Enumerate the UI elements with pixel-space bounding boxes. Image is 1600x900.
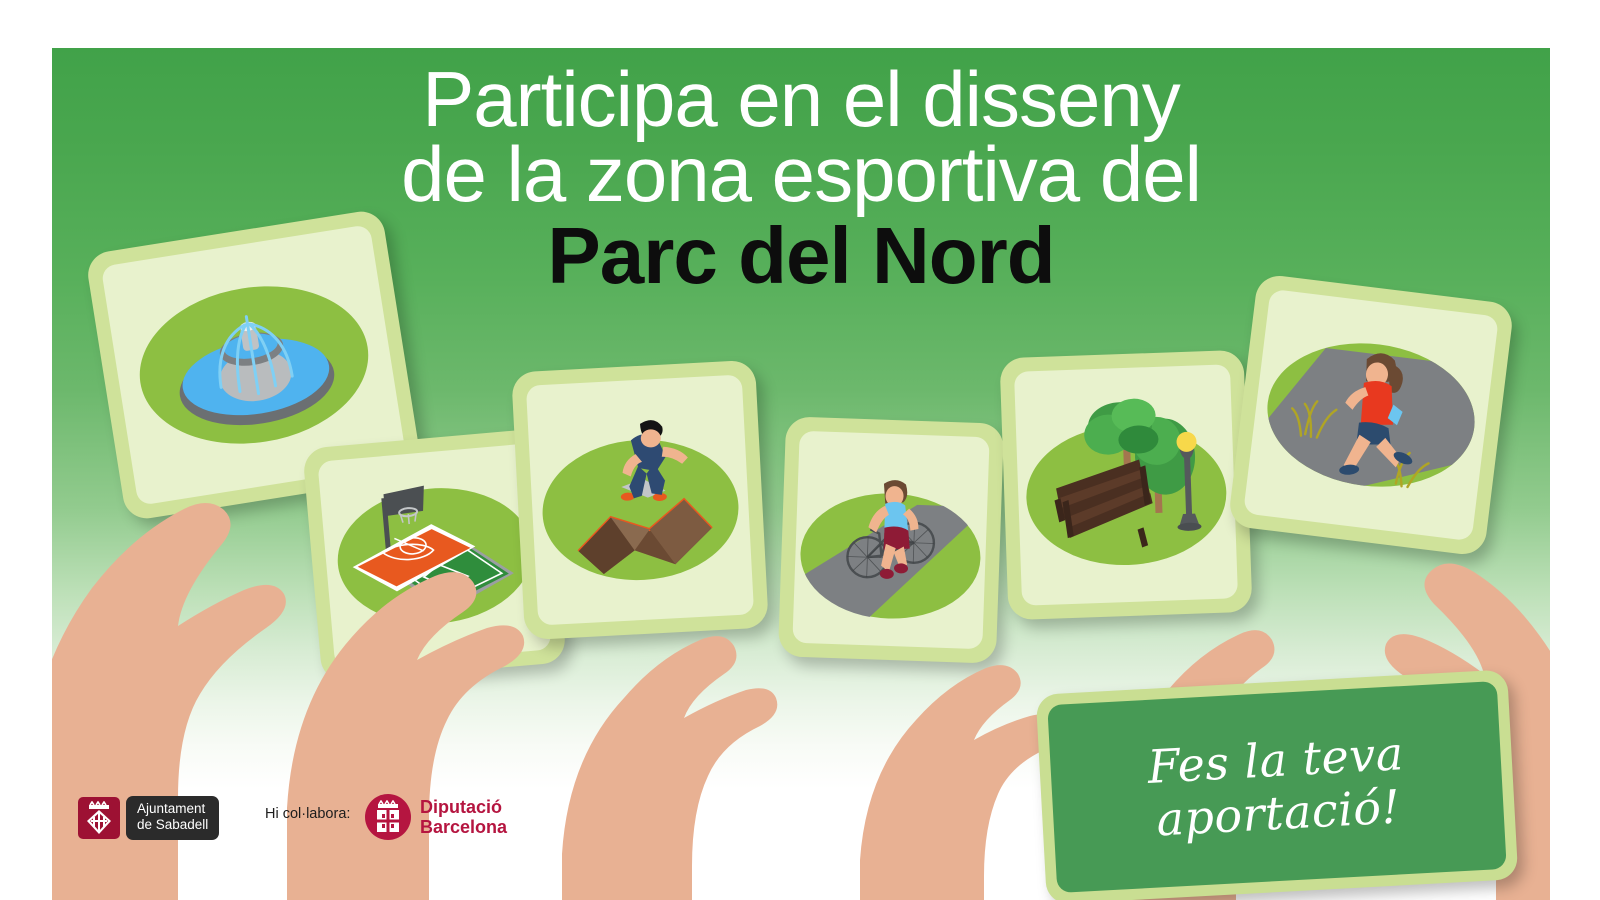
- diputacio-seal-icon: [365, 794, 411, 840]
- diputacio-crest-shape: [372, 800, 404, 834]
- sabadell-shield-icon: [78, 797, 120, 839]
- ajuntament-line-2: de Sabadell: [137, 817, 208, 833]
- diputacio-line-2: Barcelona: [420, 817, 507, 837]
- ajuntament-name-box: Ajuntament de Sabadell: [126, 796, 219, 840]
- ajuntament-line-1: Ajuntament: [137, 801, 208, 817]
- diputacio-barcelona-logo[interactable]: Diputació Barcelona: [365, 794, 507, 840]
- diputacio-line-1: Diputació: [420, 797, 507, 817]
- collaborates-label: Hi col·labora:: [265, 806, 350, 822]
- call-to-action-badge[interactable]: Fes la teva aportació!: [1036, 669, 1519, 900]
- footer-logos: Ajuntament de Sabadell Hi col·labora: Di…: [0, 786, 1600, 856]
- diputacio-name: Diputació Barcelona: [420, 797, 507, 837]
- sabadell-crest-shape: [84, 801, 114, 835]
- poster-canvas: Participa en el disseny de la zona espor…: [0, 0, 1600, 900]
- ajuntament-de-sabadell-logo[interactable]: Ajuntament de Sabadell: [78, 796, 219, 840]
